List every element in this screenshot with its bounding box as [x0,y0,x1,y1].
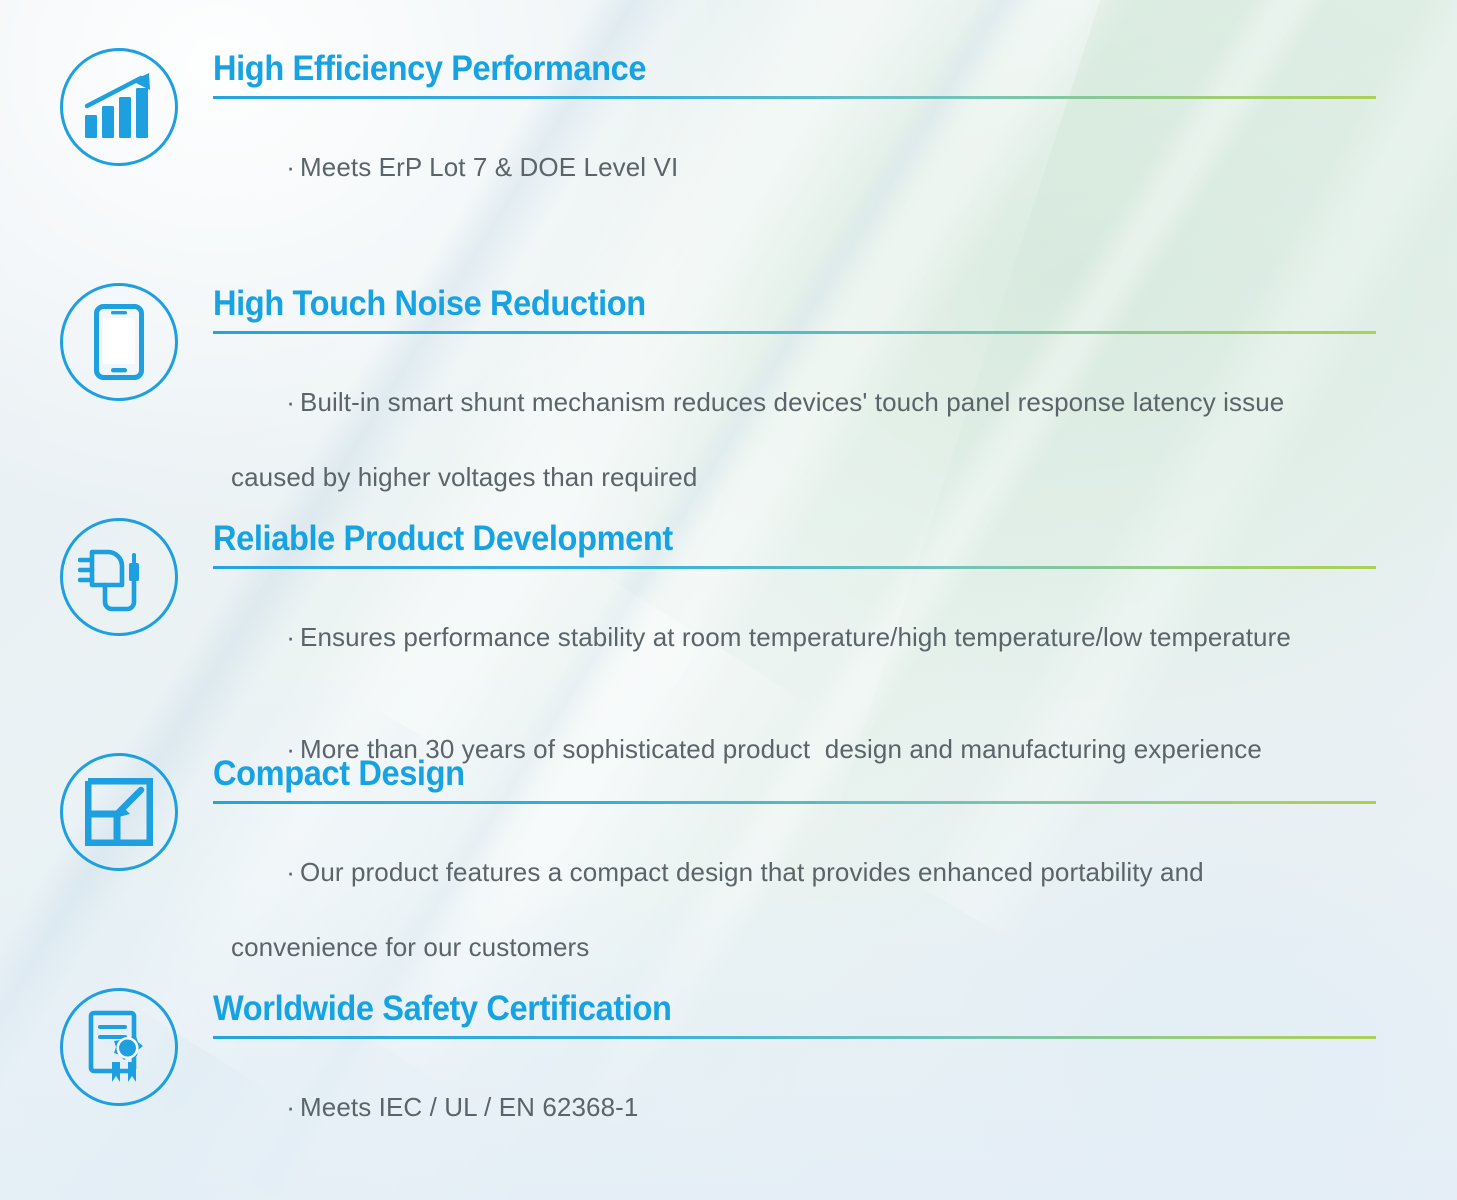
compact-resize-icon [60,753,178,871]
power-adapter-icon [60,518,178,636]
feature-item-high-efficiency-performance: High Efficiency Performance ·Meets ErP L… [60,48,1376,224]
bullet-dot: · [286,857,295,887]
bullet-line: ·Meets ErP Lot 7 & DOE Level VI [213,112,1376,224]
feature-highlights-page: High Efficiency Performance ·Meets ErP L… [0,0,1457,1200]
bullet-text-continuation: caused by higher voltages than required [213,459,1376,496]
smartphone-icon [60,283,178,401]
certificate-seal-icon [60,988,178,1106]
bullet-dot: · [286,152,295,182]
bullet-text: Built-in smart shunt mechanism reduces d… [300,387,1284,417]
feature-divider [213,801,1376,804]
feature-title: Worldwide Safety Certification [213,990,1295,1027]
feature-title: Reliable Product Development [213,520,1295,557]
feature-title: High Efficiency Performance [213,50,1295,87]
bullet-text: Our product features a compact design th… [300,857,1204,887]
bullet-text: Ensures performance stability at room te… [300,622,1291,652]
bullet-text: Meets ErP Lot 7 & DOE Level VI [300,152,678,182]
bullet-line: ·Ensures performance stability at room t… [213,582,1376,694]
feature-body: High Efficiency Performance ·Meets ErP L… [213,48,1376,224]
feature-divider [213,566,1376,569]
feature-bullet-list: ·Meets IEC / UL / EN 62368-1 [213,1052,1376,1164]
bullet-dot: · [286,622,295,652]
feature-title: High Touch Noise Reduction [213,285,1295,322]
feature-item-worldwide-safety-certification: Worldwide Safety Certification ·Meets IE… [60,988,1376,1164]
feature-body: Worldwide Safety Certification ·Meets IE… [213,988,1376,1164]
feature-bullet-list: ·Meets ErP Lot 7 & DOE Level VI [213,112,1376,224]
feature-divider [213,96,1376,99]
growth-chart-icon [60,48,178,166]
bullet-text: Meets IEC / UL / EN 62368-1 [300,1092,638,1122]
feature-divider [213,331,1376,334]
feature-title: Compact Design [213,755,1295,792]
bullet-text-continuation: convenience for our customers [213,929,1376,966]
feature-divider [213,1036,1376,1039]
bullet-dot: · [286,1092,295,1122]
bullet-dot: · [286,387,295,417]
bullet-line: ·Meets IEC / UL / EN 62368-1 [213,1052,1376,1164]
